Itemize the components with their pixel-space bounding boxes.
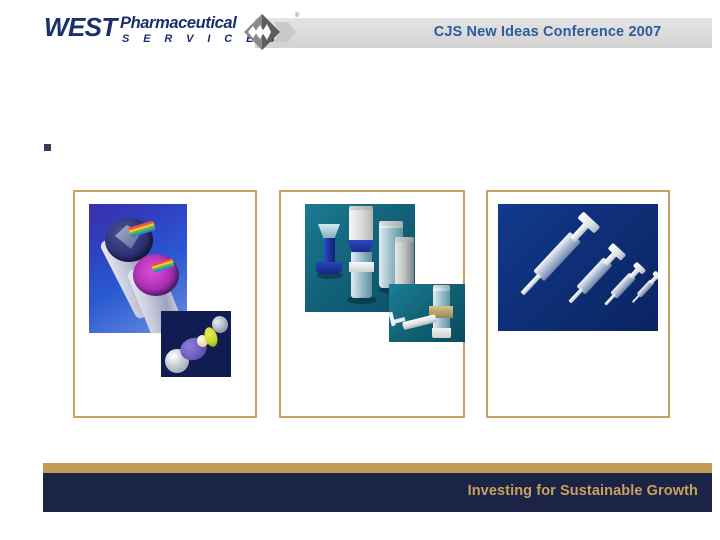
logo-word-west: WEST — [44, 14, 117, 40]
labeled-vial-body — [349, 210, 373, 242]
prefillable-syringes-panel — [486, 190, 670, 418]
syringe-vial-transfer-photo — [389, 284, 465, 342]
footer-navy-bar: Investing for Sustainable Growth — [43, 473, 712, 512]
footer-gold-bar — [43, 463, 712, 473]
page-title: CJS New Ideas Conference 2007 — [400, 24, 695, 40]
vial-adapters-panel — [279, 190, 465, 418]
bullet-marker — [44, 144, 51, 151]
clear-vial-middle-band — [349, 262, 374, 272]
registered-trademark-mark: ® — [295, 13, 299, 19]
transfer-vial-base — [432, 328, 451, 338]
slide-header: CJS New Ideas Conference 2007 WEST Pharm… — [0, 0, 720, 60]
syringe-family-photo — [498, 204, 658, 331]
clear-vial-middle — [351, 252, 372, 298]
adapter-blue-base-part — [316, 262, 342, 274]
footer-tagline: Investing for Sustainable Growth — [468, 483, 698, 499]
short-gray-vial — [395, 242, 414, 288]
vial-sealing-systems-panel — [73, 190, 257, 418]
brand-logo: WEST Pharmaceutical S E R V I C E S ® — [44, 14, 294, 50]
exploded-components-photo — [161, 311, 231, 377]
logo-word-pharmaceutical: Pharmaceutical — [120, 15, 236, 32]
